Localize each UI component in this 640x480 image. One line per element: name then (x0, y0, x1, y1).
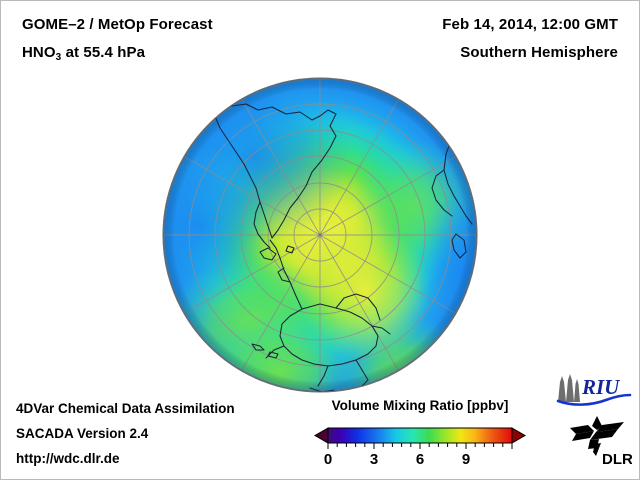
riu-logo: RIU (556, 372, 632, 406)
colorbar-tick-3: 3 (370, 451, 378, 468)
colorbar-right-cap (512, 428, 525, 443)
colorbar-tick-9: 9 (462, 451, 470, 468)
riu-logo-svg: RIU (556, 372, 632, 406)
region-label: Southern Hemisphere (460, 44, 618, 61)
colorbar: Volume Mixing Ratio [ppbv] (312, 398, 528, 468)
colorbar-tick-0: 0 (324, 451, 332, 468)
species-level-label: HNO3 at 55.4 hPa (22, 44, 145, 63)
dlr-wordmark: DLR (602, 451, 632, 468)
timestamp-label: Feb 14, 2014, 12:00 GMT (442, 16, 618, 33)
colorbar-left-cap (315, 428, 328, 443)
dlr-mark-icon (570, 416, 624, 456)
dlr-logo: DLR (566, 414, 632, 468)
dlr-logo-svg: DLR (566, 414, 632, 468)
version-label: SACADA Version 2.4 (16, 426, 148, 441)
pressure-level: at 55.4 hPa (61, 44, 145, 61)
method-label: 4DVar Chemical Data Assimilation (16, 401, 235, 416)
colorbar-gradient (328, 428, 512, 443)
cooling-tower-icon (558, 374, 580, 402)
riu-wordmark: RIU (581, 375, 621, 399)
colorbar-title: Volume Mixing Ratio [ppbv] (312, 398, 528, 413)
page-title: GOME–2 / MetOp Forecast (22, 16, 213, 33)
south-pole-point (318, 233, 321, 236)
globe-svg (160, 76, 480, 396)
website-url[interactable]: http://wdc.dlr.de (16, 451, 120, 466)
colorbar-ticks (328, 443, 512, 449)
colorbar-tick-6: 6 (416, 451, 424, 468)
colorbar-svg: 0 3 6 9 (312, 418, 528, 468)
globe-map (160, 76, 480, 396)
species-name: HNO (22, 44, 56, 61)
